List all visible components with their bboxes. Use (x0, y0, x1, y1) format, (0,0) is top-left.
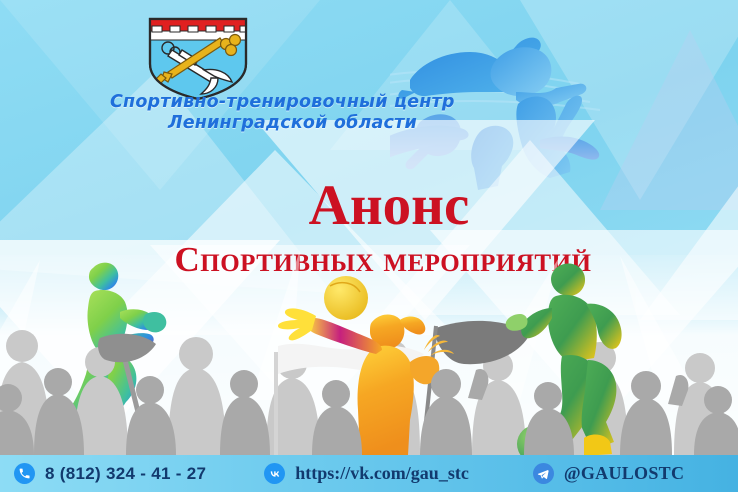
footer-contact-bar: 8 (812) 324 - 41 - 27 https://vk.com/gau… (0, 455, 738, 492)
contact-vk[interactable]: https://vk.com/gau_stc (264, 463, 469, 484)
vk-icon (264, 463, 285, 484)
poster-canvas: Спортивно-тренировочный центр Ленинградс… (0, 0, 738, 492)
phone-icon (14, 463, 35, 484)
telegram-handle: @GAULOSTC (564, 463, 684, 484)
contact-phone[interactable]: 8 (812) 324 - 41 - 27 (14, 463, 206, 484)
organization-title: Спортивно-тренировочный центр Ленинградс… (110, 92, 510, 134)
phone-number: 8 (812) 324 - 41 - 27 (45, 464, 206, 484)
org-title-line-2: Ленинградской области (110, 113, 510, 134)
coat-of-arms-icon (146, 16, 250, 102)
vk-link: https://vk.com/gau_stc (295, 463, 469, 484)
contact-telegram[interactable]: @GAULOSTC (533, 463, 684, 484)
telegram-icon (533, 463, 554, 484)
headline-primary: Анонс (0, 176, 738, 236)
sports-scene-artwork (0, 250, 738, 455)
org-title-line-1: Спортивно-тренировочный центр (110, 92, 510, 113)
